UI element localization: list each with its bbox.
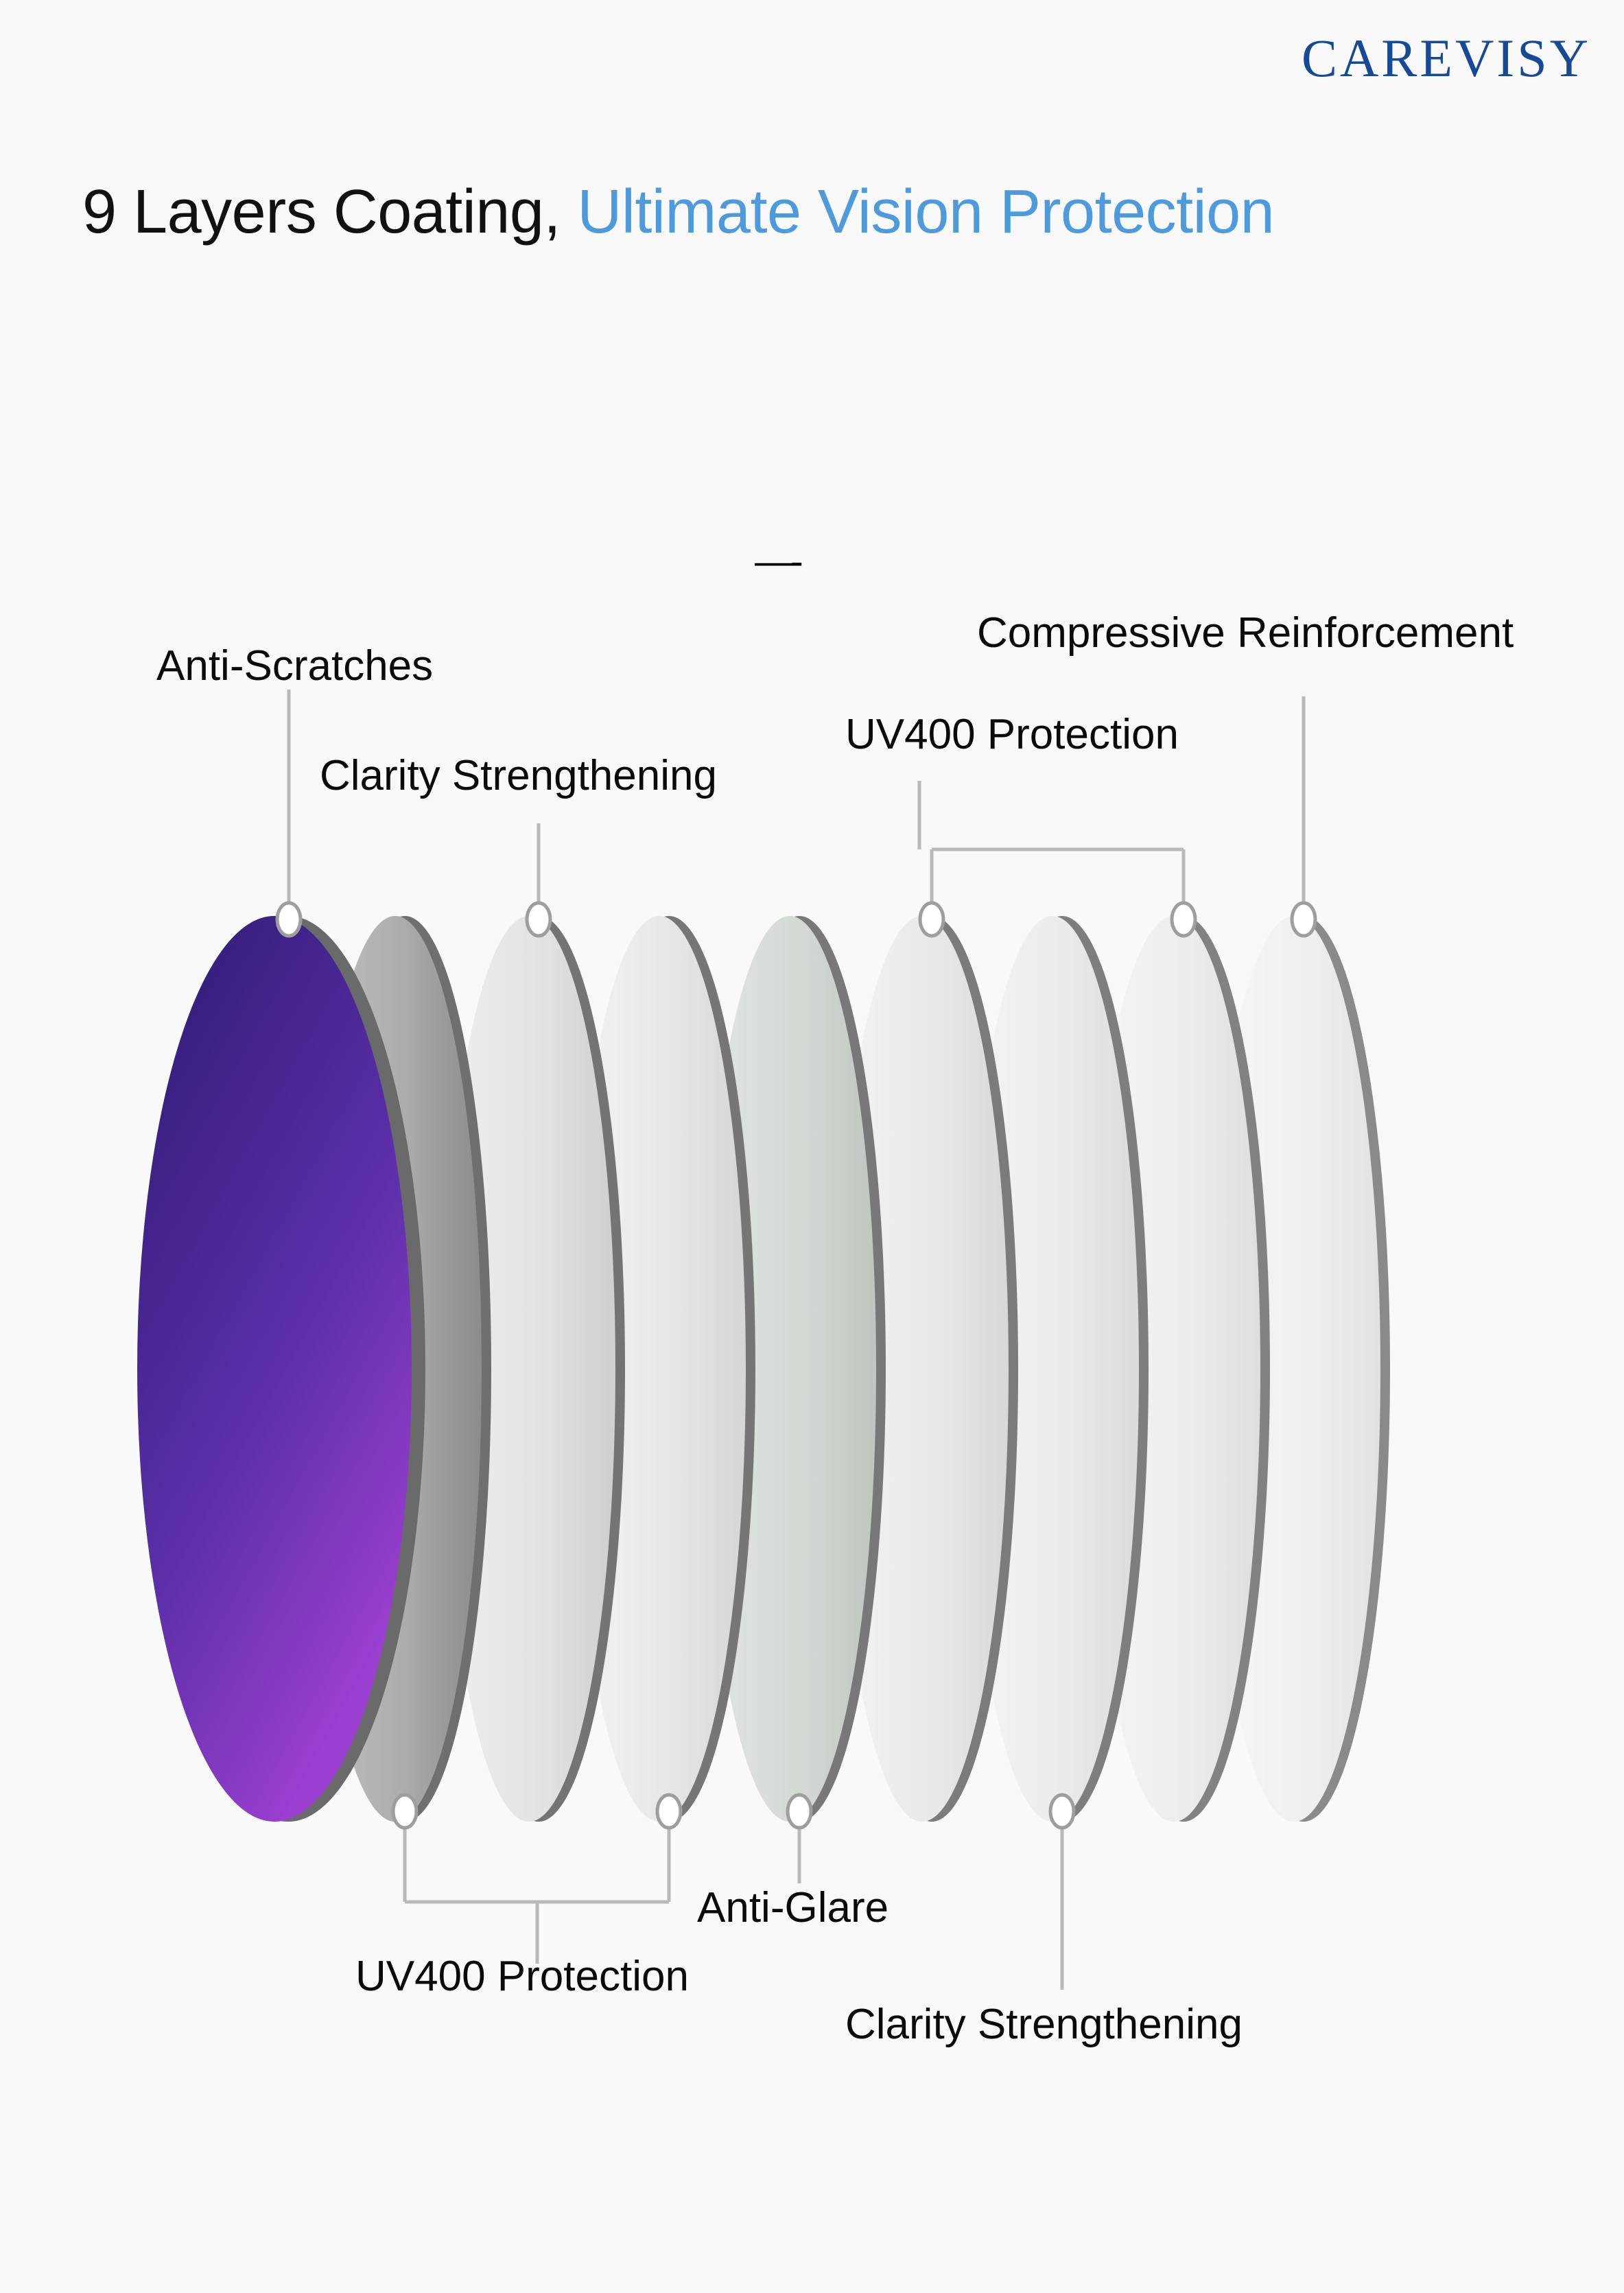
node-uv400-bottom-left — [393, 1795, 416, 1828]
label-uv400-protection-bottom: UV400 Protection — [355, 1955, 689, 1998]
node-clarity-bottom — [1050, 1795, 1074, 1828]
lens-layers — [137, 916, 1390, 1822]
node-uv400-top-right — [1172, 903, 1195, 936]
node-clarity-top — [527, 903, 550, 936]
label-clarity-strengthening-top: Clarity Strengthening — [320, 755, 717, 797]
node-anti-glare — [788, 1795, 811, 1828]
lens-layer-1 — [137, 916, 425, 1822]
node-uv400-bottom-right — [657, 1795, 681, 1828]
poster-root: CAREVISY 9 Layers Coating, Ultimate Visi… — [0, 0, 1624, 2293]
label-anti-glare: Anti-Glare — [697, 1887, 889, 1929]
label-uv400-protection-top: UV400 Protection — [845, 714, 1179, 756]
label-clarity-strengthening-bottom: Clarity Strengthening — [845, 2003, 1243, 2046]
node-anti-scratches — [277, 903, 301, 936]
node-uv400-top-left — [920, 903, 943, 936]
label-compressive-reinforcement: Compressive Reinforcement — [977, 612, 1514, 655]
label-anti-scratches: Anti-Scratches — [156, 645, 433, 687]
node-compressive — [1292, 903, 1315, 936]
lens-stack-diagram — [0, 0, 1624, 2293]
